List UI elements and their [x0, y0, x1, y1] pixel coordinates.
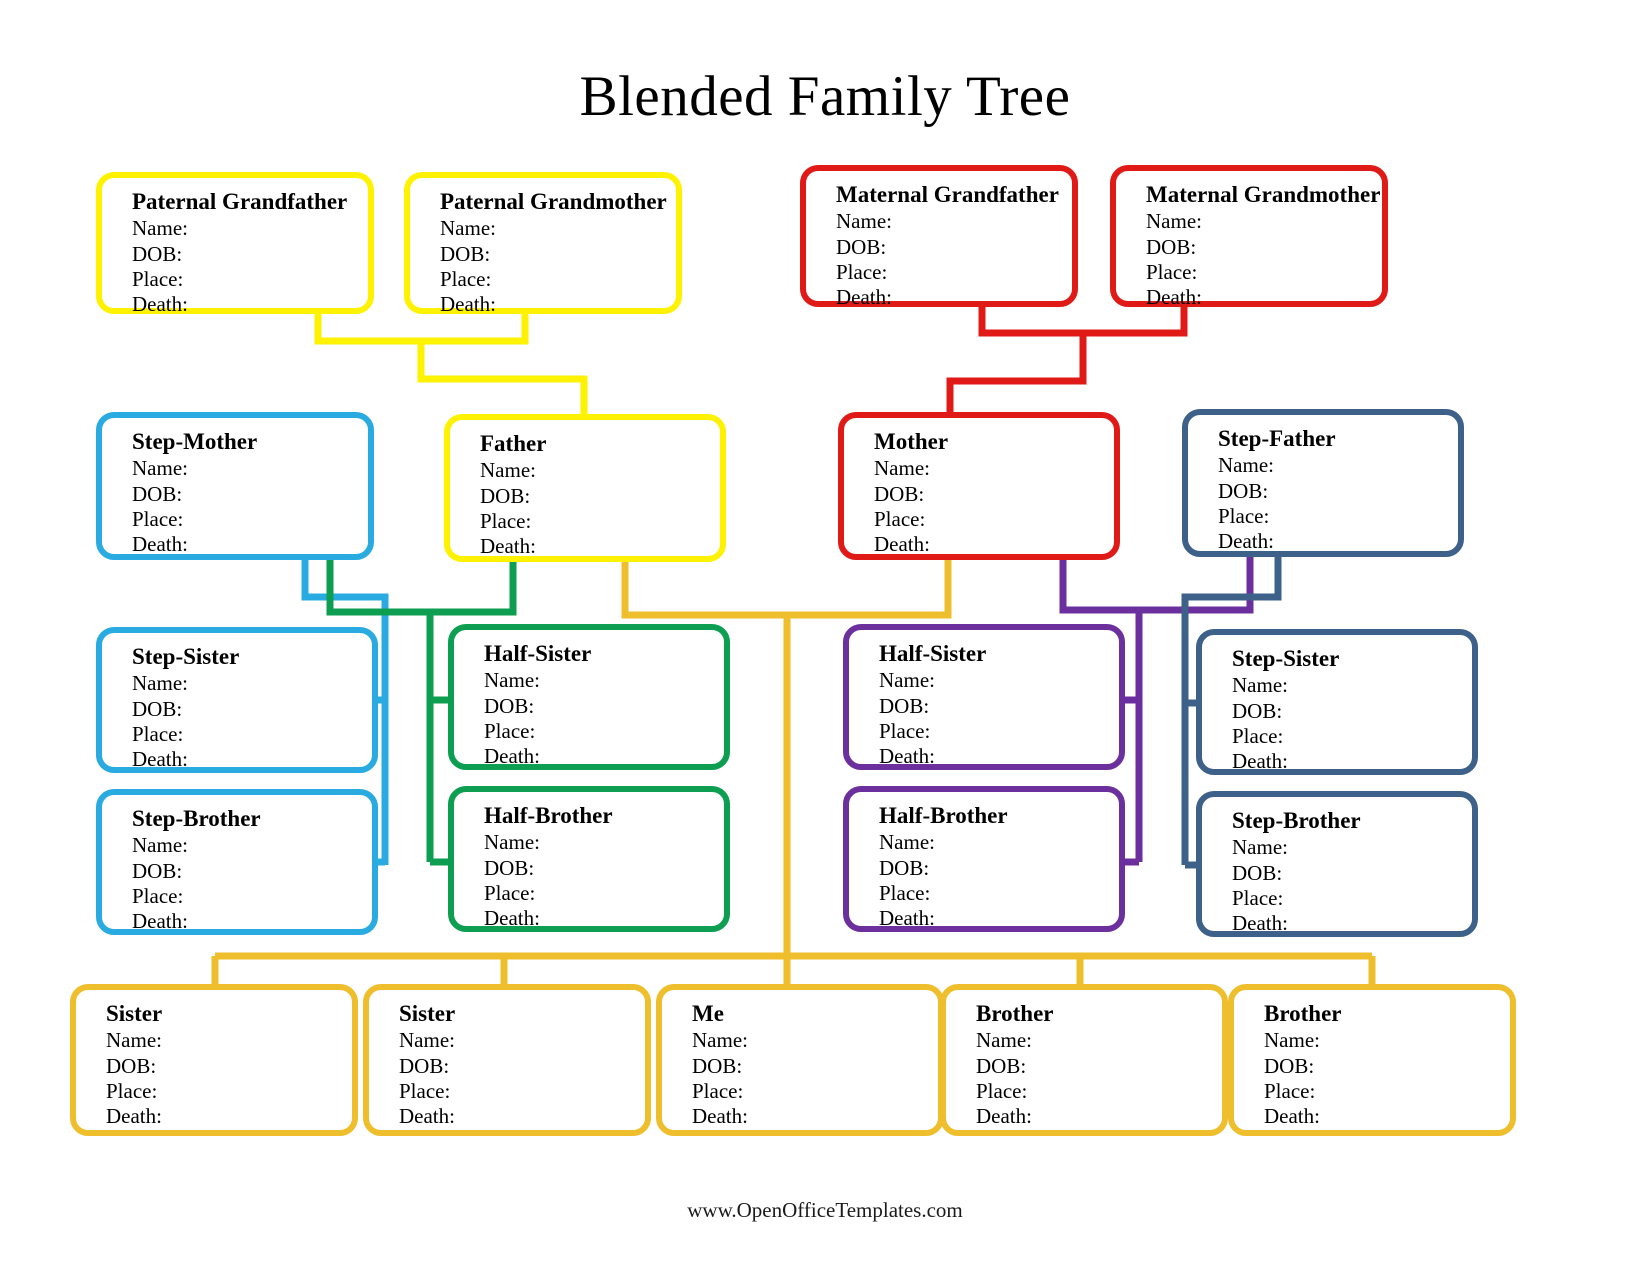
node-field-death[interactable]: Death: [1232, 749, 1472, 774]
node-field-dob[interactable]: DOB: [484, 856, 724, 881]
node-field-name[interactable]: Name: [132, 671, 372, 696]
node-field-place[interactable]: Place: [132, 507, 368, 532]
node-title: Maternal Grandfather [836, 181, 1072, 208]
node-field-place[interactable]: Place: [1218, 504, 1458, 529]
node-field-death[interactable]: Death: [106, 1104, 352, 1129]
node-field-name[interactable]: Name: [132, 456, 368, 481]
node-field-name[interactable]: Name: [976, 1028, 1222, 1053]
node-half-brother-left[interactable]: Half-BrotherName:DOB:Place:Death: [448, 786, 730, 932]
node-field-dob[interactable]: DOB: [1218, 479, 1458, 504]
node-field-dob[interactable]: DOB: [132, 859, 372, 884]
node-field-name[interactable]: Name: [399, 1028, 645, 1053]
node-field-death[interactable]: Death: [440, 292, 676, 317]
node-step-brother-left[interactable]: Step-BrotherName:DOB:Place:Death: [96, 789, 378, 935]
node-title: Me [692, 1000, 938, 1027]
node-field-place[interactable]: Place: [879, 719, 1119, 744]
node-field-dob[interactable]: DOB: [132, 242, 368, 267]
node-field-name[interactable]: Name: [1264, 1028, 1510, 1053]
node-title: Step-Brother [132, 805, 372, 832]
node-field-death[interactable]: Death: [399, 1104, 645, 1129]
node-title: Mother [874, 428, 1114, 455]
node-field-name[interactable]: Name: [132, 833, 372, 858]
node-field-place[interactable]: Place: [1146, 260, 1382, 285]
node-title: Brother [1264, 1000, 1510, 1027]
node-field-death[interactable]: Death: [692, 1104, 938, 1129]
node-field-name[interactable]: Name: [1218, 453, 1458, 478]
node-field-death[interactable]: Death: [874, 532, 1114, 557]
node-field-death[interactable]: Death: [132, 532, 368, 557]
node-title: Maternal Grandmother [1146, 181, 1382, 208]
node-step-mother[interactable]: Step-MotherName:DOB:Place:Death: [96, 412, 374, 560]
node-field-name[interactable]: Name: [132, 216, 368, 241]
node-field-place[interactable]: Place: [836, 260, 1072, 285]
node-field-name[interactable]: Name: [1232, 835, 1472, 860]
family-tree-page: Blended Family Tree Paternal Grandfather… [0, 0, 1650, 1275]
node-field-death[interactable]: Death: [1232, 911, 1472, 936]
node-title: Sister [399, 1000, 645, 1027]
node-field-place[interactable]: Place: [399, 1079, 645, 1104]
node-field-name[interactable]: Name: [879, 830, 1119, 855]
node-field-dob[interactable]: DOB: [1146, 235, 1382, 260]
node-field-name[interactable]: Name: [692, 1028, 938, 1053]
node-field-place[interactable]: Place: [132, 722, 372, 747]
node-field-dob[interactable]: DOB: [692, 1054, 938, 1079]
node-field-place[interactable]: Place: [484, 719, 724, 744]
node-field-death[interactable]: Death: [132, 747, 372, 772]
node-field-name[interactable]: Name: [874, 456, 1114, 481]
node-field-place[interactable]: Place: [1232, 724, 1472, 749]
node-title: Paternal Grandmother [440, 188, 676, 215]
node-field-place[interactable]: Place: [1264, 1079, 1510, 1104]
node-father[interactable]: FatherName:DOB:Place:Death: [444, 414, 726, 562]
node-field-dob[interactable]: DOB: [836, 235, 1072, 260]
node-field-dob[interactable]: DOB: [874, 482, 1114, 507]
node-half-sister-left[interactable]: Half-SisterName:DOB:Place:Death: [448, 624, 730, 770]
node-field-dob[interactable]: DOB: [1232, 699, 1472, 724]
node-field-death[interactable]: Death: [484, 744, 724, 769]
node-title: Sister [106, 1000, 352, 1027]
node-field-name[interactable]: Name: [1146, 209, 1382, 234]
node-half-brother-right[interactable]: Half-BrotherName:DOB:Place:Death: [843, 786, 1125, 932]
node-field-dob[interactable]: DOB: [132, 482, 368, 507]
node-field-death[interactable]: Death: [1264, 1104, 1510, 1129]
node-field-place[interactable]: Place: [480, 509, 720, 534]
node-field-place[interactable]: Place: [132, 884, 372, 909]
node-field-place[interactable]: Place: [1232, 886, 1472, 911]
node-layer: Paternal GrandfatherName:DOB:Place:Death… [0, 0, 1650, 1275]
node-field-death[interactable]: Death: [879, 906, 1119, 931]
node-paternal-grandfather[interactable]: Paternal GrandfatherName:DOB:Place:Death… [96, 172, 374, 314]
node-field-dob[interactable]: DOB: [1264, 1054, 1510, 1079]
node-field-place[interactable]: Place: [484, 881, 724, 906]
node-field-name[interactable]: Name: [480, 458, 720, 483]
node-title: Step-Sister [1232, 645, 1472, 672]
node-field-death[interactable]: Death: [480, 534, 720, 559]
node-title: Paternal Grandfather [132, 188, 368, 215]
node-step-brother-right[interactable]: Step-BrotherName:DOB:Place:Death: [1196, 791, 1478, 937]
node-title: Brother [976, 1000, 1222, 1027]
node-field-death[interactable]: Death: [1218, 529, 1458, 554]
node-field-dob[interactable]: DOB: [879, 856, 1119, 881]
node-title: Half-Sister [879, 640, 1119, 667]
node-field-name[interactable]: Name: [836, 209, 1072, 234]
node-title: Father [480, 430, 720, 457]
node-field-place[interactable]: Place: [106, 1079, 352, 1104]
node-field-dob[interactable]: DOB: [132, 697, 372, 722]
node-field-name[interactable]: Name: [484, 830, 724, 855]
node-field-death[interactable]: Death: [1146, 285, 1382, 310]
node-field-death[interactable]: Death: [879, 744, 1119, 769]
node-field-death[interactable]: Death: [132, 909, 372, 934]
node-field-place[interactable]: Place: [874, 507, 1114, 532]
node-step-sister-left[interactable]: Step-SisterName:DOB:Place:Death: [96, 627, 378, 773]
node-field-dob[interactable]: DOB: [976, 1054, 1222, 1079]
node-maternal-grandfather[interactable]: Maternal GrandfatherName:DOB:Place:Death… [800, 165, 1078, 307]
node-title: Step-Brother [1232, 807, 1472, 834]
node-title: Step-Mother [132, 428, 368, 455]
node-half-sister-right[interactable]: Half-SisterName:DOB:Place:Death: [843, 624, 1125, 770]
node-step-sister-right[interactable]: Step-SisterName:DOB:Place:Death: [1196, 629, 1478, 775]
node-sister-1[interactable]: SisterName:DOB:Place:Death: [70, 984, 358, 1136]
node-brother-2[interactable]: BrotherName:DOB:Place:Death: [1228, 984, 1516, 1136]
node-title: Half-Brother [879, 802, 1119, 829]
node-field-death[interactable]: Death: [976, 1104, 1222, 1129]
node-step-father[interactable]: Step-FatherName:DOB:Place:Death: [1182, 409, 1464, 557]
node-field-dob[interactable]: DOB: [399, 1054, 645, 1079]
node-field-dob[interactable]: DOB: [106, 1054, 352, 1079]
node-paternal-grandmother[interactable]: Paternal GrandmotherName:DOB:Place:Death… [404, 172, 682, 314]
node-title: Half-Sister [484, 640, 724, 667]
node-field-name[interactable]: Name: [879, 668, 1119, 693]
node-field-dob[interactable]: DOB: [1232, 861, 1472, 886]
node-maternal-grandmother[interactable]: Maternal GrandmotherName:DOB:Place:Death… [1110, 165, 1388, 307]
node-field-place[interactable]: Place: [692, 1079, 938, 1104]
node-field-dob[interactable]: DOB: [879, 694, 1119, 719]
node-mother[interactable]: MotherName:DOB:Place:Death: [838, 412, 1120, 560]
node-title: Step-Sister [132, 643, 372, 670]
node-field-death[interactable]: Death: [132, 292, 368, 317]
node-title: Step-Father [1218, 425, 1458, 452]
node-field-place[interactable]: Place: [132, 267, 368, 292]
node-field-name[interactable]: Name: [484, 668, 724, 693]
node-field-place[interactable]: Place: [440, 267, 676, 292]
node-field-dob[interactable]: DOB: [440, 242, 676, 267]
node-title: Half-Brother [484, 802, 724, 829]
node-sister-2[interactable]: SisterName:DOB:Place:Death: [363, 984, 651, 1136]
node-field-place[interactable]: Place: [976, 1079, 1222, 1104]
node-field-death[interactable]: Death: [836, 285, 1072, 310]
node-field-death[interactable]: Death: [484, 906, 724, 931]
node-field-dob[interactable]: DOB: [480, 484, 720, 509]
node-field-name[interactable]: Name: [1232, 673, 1472, 698]
node-field-name[interactable]: Name: [106, 1028, 352, 1053]
node-brother-1[interactable]: BrotherName:DOB:Place:Death: [940, 984, 1228, 1136]
node-field-place[interactable]: Place: [879, 881, 1119, 906]
node-field-dob[interactable]: DOB: [484, 694, 724, 719]
node-field-name[interactable]: Name: [440, 216, 676, 241]
node-me[interactable]: MeName:DOB:Place:Death: [656, 984, 944, 1136]
